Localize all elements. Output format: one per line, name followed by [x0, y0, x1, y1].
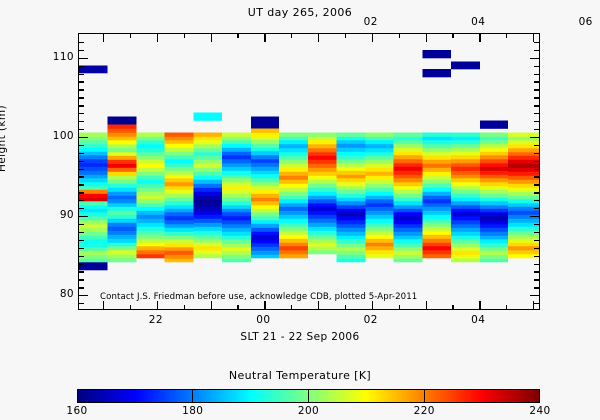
axis-tick — [79, 176, 84, 177]
x-axis-bottom-tick-label: 22 — [149, 314, 163, 326]
axis-tick — [479, 34, 480, 42]
axis-tick — [79, 74, 84, 75]
axis-tick — [534, 113, 539, 114]
axis-tick — [534, 66, 539, 67]
axis-tick — [534, 240, 539, 241]
x-axis-bottom-tick-label: 04 — [471, 314, 485, 326]
axis-tick — [534, 248, 539, 249]
y-axis-tick-label: 90 — [48, 209, 74, 221]
axis-tick — [79, 224, 84, 225]
axis-tick — [184, 34, 185, 38]
axis-tick — [534, 208, 539, 209]
x-axis-top-tick-label: 06 — [579, 16, 593, 28]
axis-tick — [479, 301, 480, 309]
axis-tick — [426, 301, 427, 309]
axis-tick — [399, 305, 400, 309]
axis-tick — [211, 301, 212, 309]
axis-tick — [534, 74, 539, 75]
axis-tick — [291, 305, 292, 309]
axis-tick — [534, 89, 539, 90]
axis-tick — [534, 105, 539, 106]
axis-tick — [534, 121, 539, 122]
axis-tick — [534, 232, 539, 233]
heatmap-plot-area — [78, 33, 540, 310]
axis-tick — [79, 279, 84, 280]
colorbar-tick-label: 160 — [66, 405, 87, 417]
axis-tick — [345, 34, 346, 38]
axis-tick — [318, 34, 319, 42]
axis-tick — [372, 34, 373, 42]
axis-tick — [79, 89, 84, 90]
y-axis-tick-label: 110 — [48, 51, 74, 63]
axis-tick — [530, 58, 539, 59]
axis-tick — [452, 305, 453, 309]
axis-tick — [237, 34, 238, 38]
axis-tick — [130, 305, 131, 309]
axis-tick — [79, 287, 84, 288]
axis-tick — [534, 145, 539, 146]
axis-tick — [130, 34, 131, 38]
axis-tick — [79, 42, 84, 43]
axis-tick — [530, 295, 539, 296]
colorbar — [77, 389, 540, 403]
credit-annotation: Contact J.S. Friedman before use, acknow… — [100, 292, 417, 302]
axis-tick — [534, 287, 539, 288]
axis-tick — [79, 216, 88, 217]
axis-tick — [79, 200, 84, 201]
axis-tick — [79, 256, 84, 257]
axis-tick — [452, 34, 453, 38]
axis-tick — [79, 232, 84, 233]
axis-tick — [533, 34, 534, 42]
plot-page: UT day 265, 2006 02040608220002041101009… — [0, 0, 600, 420]
axis-tick — [237, 305, 238, 309]
axis-tick — [534, 184, 539, 185]
axis-tick — [157, 34, 158, 42]
axis-tick — [264, 301, 265, 309]
axis-tick — [103, 301, 104, 309]
axis-tick — [211, 34, 212, 42]
axis-tick — [534, 200, 539, 201]
colorbar-tick-label: 200 — [298, 405, 319, 417]
axis-tick — [264, 34, 265, 42]
y-axis-title: Height (km) — [0, 105, 8, 172]
axis-tick — [79, 121, 84, 122]
y-axis-tick-label: 80 — [48, 288, 74, 300]
axis-tick — [79, 81, 84, 82]
axis-tick — [79, 295, 88, 296]
x-axis-title: SLT 21 - 22 Sep 2006 — [0, 331, 600, 343]
axis-tick — [79, 50, 84, 51]
axis-tick — [534, 50, 539, 51]
x-axis-bottom-tick-label: 00 — [256, 314, 270, 326]
axis-tick — [530, 216, 539, 217]
colorbar-tick-label: 240 — [529, 405, 550, 417]
colorbar-tick — [424, 390, 425, 402]
axis-tick — [79, 145, 84, 146]
y-axis-tick-label: 100 — [48, 130, 74, 142]
colorbar-title: Neutral Temperature [K] — [0, 369, 600, 382]
axis-tick — [372, 301, 373, 309]
axis-tick — [399, 34, 400, 38]
axis-tick — [534, 264, 539, 265]
axis-tick — [426, 34, 427, 42]
axis-tick — [79, 264, 84, 265]
axis-tick — [79, 248, 84, 249]
axis-tick — [534, 129, 539, 130]
axis-tick — [534, 279, 539, 280]
heatmap-canvas-wrapper — [79, 34, 539, 309]
colorbar-tick — [308, 390, 309, 402]
x-axis-top-tick-label: 02 — [364, 16, 378, 28]
axis-tick — [79, 303, 84, 304]
axis-tick — [534, 224, 539, 225]
axis-tick — [534, 97, 539, 98]
colorbar-tick — [192, 390, 193, 402]
x-axis-top-tick-label: 04 — [471, 16, 485, 28]
axis-tick — [506, 34, 507, 38]
axis-tick — [345, 305, 346, 309]
heatmap-image — [79, 34, 539, 309]
axis-tick — [318, 301, 319, 309]
axis-tick — [79, 129, 84, 130]
axis-tick — [79, 66, 84, 67]
axis-tick — [291, 34, 292, 38]
axis-tick — [79, 271, 84, 272]
axis-tick — [534, 256, 539, 257]
axis-tick — [79, 113, 84, 114]
axis-tick — [79, 192, 84, 193]
axis-tick — [506, 305, 507, 309]
axis-tick — [79, 105, 84, 106]
axis-tick — [534, 42, 539, 43]
colorbar-tick-label: 220 — [414, 405, 435, 417]
axis-tick — [79, 184, 84, 185]
axis-tick — [534, 192, 539, 193]
axis-tick — [534, 153, 539, 154]
axis-tick — [79, 208, 84, 209]
axis-tick — [79, 137, 88, 138]
axis-tick — [534, 169, 539, 170]
axis-tick — [157, 301, 158, 309]
axis-tick — [534, 176, 539, 177]
axis-tick — [534, 303, 539, 304]
axis-tick — [534, 271, 539, 272]
axis-tick — [79, 58, 88, 59]
axis-tick — [79, 169, 84, 170]
axis-tick — [79, 153, 84, 154]
axis-tick — [79, 161, 84, 162]
page-title: UT day 265, 2006 — [0, 6, 600, 19]
axis-tick — [530, 137, 539, 138]
axis-tick — [534, 81, 539, 82]
x-axis-bottom-tick-label: 02 — [364, 314, 378, 326]
axis-tick — [184, 305, 185, 309]
colorbar-tick-label: 180 — [182, 405, 203, 417]
axis-tick — [103, 34, 104, 42]
axis-tick — [79, 240, 84, 241]
axis-tick — [534, 161, 539, 162]
axis-tick — [79, 97, 84, 98]
